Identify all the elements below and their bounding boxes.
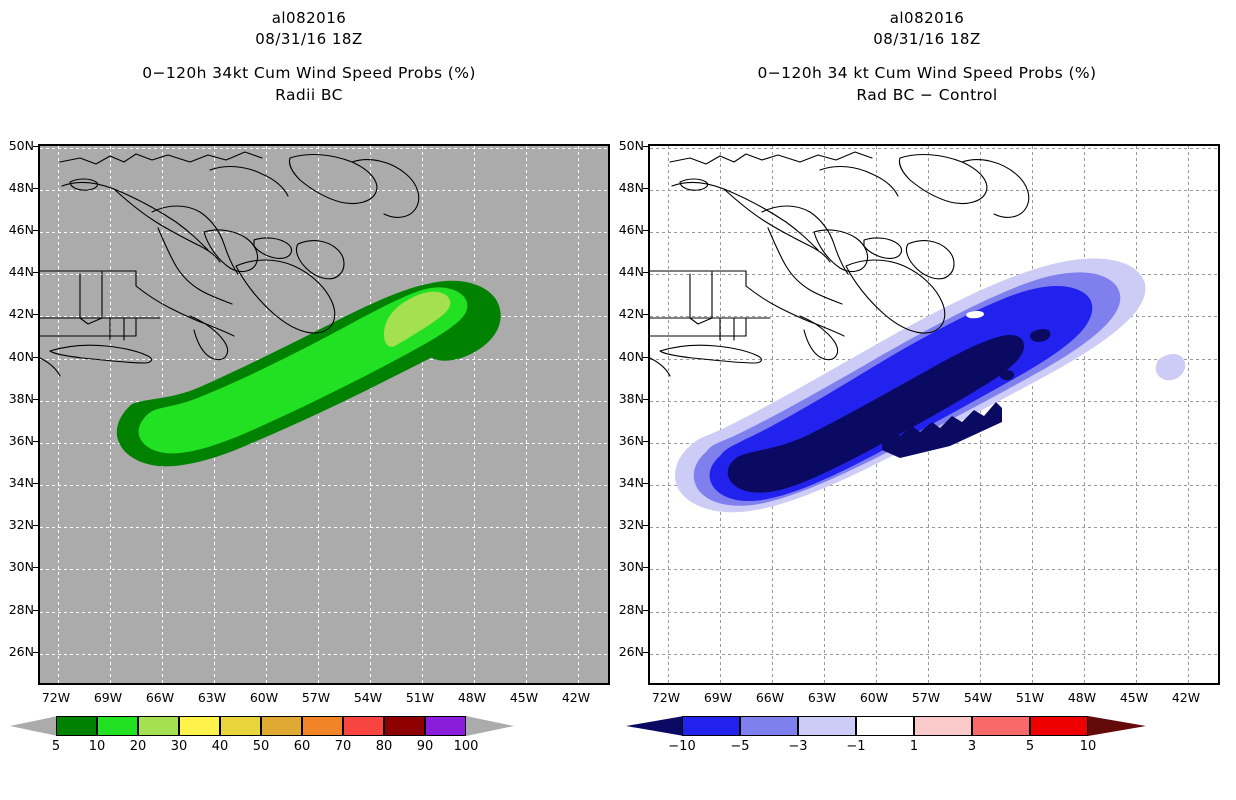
- coast-quebec-north: [60, 152, 262, 164]
- colorbar-band-70-80: [343, 716, 384, 736]
- axis-label-lon-60w: 60W: [854, 692, 894, 704]
- coast-newfoundland-east: [962, 160, 1029, 218]
- coast-long-island: [660, 345, 761, 363]
- axis-label-lat-40n: 40N: [619, 351, 644, 363]
- product-subtitle: Rad BC − Control: [618, 84, 1236, 106]
- border-ct-ri: [720, 318, 734, 340]
- colorbar-tick-40: 40: [200, 740, 240, 753]
- axis-label-lat-44n: 44N: [619, 266, 644, 278]
- coast-pei: [254, 238, 291, 258]
- colorbar-band-40-50: [220, 716, 261, 736]
- map-radii-bc: 50N 48N 46N 44N 42N 40N 38N 36N 34N 32N …: [38, 144, 610, 685]
- colorbar-tick-10: 10: [77, 740, 117, 753]
- border-ct-ri: [110, 318, 124, 340]
- coast-cape-cod: [190, 316, 228, 360]
- axis-label-lon-69w: 69W: [88, 692, 128, 704]
- axis-label-lon-69w: 69W: [698, 692, 738, 704]
- colorbar-band-10-20: [97, 716, 138, 736]
- colorbar-tick-10: 10: [1066, 740, 1110, 753]
- colorbar-band-30-40: [179, 716, 220, 736]
- border-state-vt-nh: [80, 272, 102, 324]
- axis-label-lon-51w: 51W: [1010, 692, 1050, 704]
- axis-label-lat-50n: 50N: [619, 140, 644, 152]
- axis-label-lat-48n: 48N: [619, 182, 644, 194]
- axis-label-lat-42n: 42N: [9, 308, 34, 320]
- coast-cape-cod: [800, 316, 838, 360]
- coast-st-lawrence: [62, 182, 208, 250]
- axis-label-lon-45w: 45W: [504, 692, 544, 704]
- panel-rad-bc-control: al082016 08/31/16 18Z 0−120h 34 kt Cum W…: [618, 0, 1236, 800]
- colorbar-tick-90: 90: [405, 740, 445, 753]
- coast-nj: [650, 358, 670, 376]
- axis-label-lon-57w: 57W: [906, 692, 946, 704]
- coast-new-england: [746, 286, 844, 336]
- axis-label-lon-45w: 45W: [1114, 692, 1154, 704]
- coast-nova-scotia: [846, 260, 945, 333]
- axis-label-lon-72w: 72W: [36, 692, 76, 704]
- colorbar-tick-100: 100: [446, 740, 486, 753]
- colorbar-tick-60: 60: [282, 740, 322, 753]
- axis-label-lat-38n: 38N: [9, 393, 34, 405]
- coast-new-england: [136, 286, 234, 336]
- axis-label-lat-26n: 26N: [9, 646, 34, 658]
- coastline-overlay: [650, 146, 1220, 685]
- colorbar-probability: 5 10 20 30 40 50 60 70 80 90 100: [56, 716, 566, 760]
- axis-label-lon-42w: 42W: [556, 692, 596, 704]
- storm-id: al082016: [618, 8, 1236, 29]
- colorbar-tick-neg10: −10: [660, 740, 704, 753]
- colorbar-band-neg3-neg1: [798, 716, 856, 736]
- border-state-north: [40, 271, 136, 286]
- colorbar-band-1-3: [914, 716, 972, 736]
- colorbar-band-50-60: [261, 716, 302, 736]
- axis-label-lon-72w: 72W: [646, 692, 686, 704]
- colorbar-tick-30: 30: [159, 740, 199, 753]
- coast-cape-breton: [906, 241, 954, 279]
- coast-new-brunswick: [814, 230, 868, 271]
- wind-speed-probability-figure: al082016 08/31/16 18Z 0−120h 34kt Cum Wi…: [0, 0, 1236, 800]
- border-state-vt-nh: [690, 272, 712, 324]
- axis-label-lon-48w: 48W: [1062, 692, 1102, 704]
- colorbar-tick-1: 1: [892, 740, 936, 753]
- colorbar-tick-5: 5: [1008, 740, 1052, 753]
- coast-st-lawrence: [672, 182, 818, 250]
- coast-long-island: [50, 345, 151, 363]
- coast-north-shore: [820, 167, 898, 196]
- colorbar-band-60-70: [302, 716, 343, 736]
- map-canvas: [38, 144, 610, 685]
- coast-maine: [158, 228, 232, 304]
- coast-north-shore: [210, 167, 288, 196]
- colorbar-low-cap: [626, 716, 684, 736]
- axis-label-lat-48n: 48N: [9, 182, 34, 194]
- datetime: 08/31/16 18Z: [618, 29, 1236, 50]
- product-subtitle: Radii BC: [0, 84, 618, 106]
- axis-label-lat-28n: 28N: [619, 604, 644, 616]
- panel-radii-bc: al082016 08/31/16 18Z 0−120h 34kt Cum Wi…: [0, 0, 618, 800]
- coastline-overlay: [40, 146, 610, 685]
- axis-label-lat-32n: 32N: [619, 519, 644, 531]
- axis-label-lon-54w: 54W: [958, 692, 998, 704]
- coast-newfoundland-east: [352, 160, 419, 218]
- axis-label-lat-44n: 44N: [9, 266, 34, 278]
- colorbar-band-5-10: [1030, 716, 1088, 736]
- coast-newfoundland: [289, 155, 376, 204]
- axis-label-lat-50n: 50N: [9, 140, 34, 152]
- axis-label-lat-36n: 36N: [619, 435, 644, 447]
- coast-gaspe: [114, 189, 220, 262]
- colorbar-tick-80: 80: [364, 740, 404, 753]
- colorbar-tick-neg1: −1: [834, 740, 878, 753]
- axis-label-lon-63w: 63W: [802, 692, 842, 704]
- colorbar-tick-5: 5: [36, 740, 76, 753]
- axis-label-lat-38n: 38N: [619, 393, 644, 405]
- coast-new-brunswick: [204, 230, 258, 271]
- probability-title: 0−120h 34 kt Cum Wind Speed Probs (%): [618, 62, 1236, 84]
- colorbar-tick-neg5: −5: [718, 740, 762, 753]
- coast-anticosti: [70, 179, 98, 190]
- left-panel-titles: al082016 08/31/16 18Z 0−120h 34kt Cum Wi…: [0, 8, 618, 106]
- border-ma-south: [40, 318, 136, 336]
- axis-label-lon-60w: 60W: [244, 692, 284, 704]
- colorbar-tick-50: 50: [241, 740, 281, 753]
- axis-label-lat-30n: 30N: [619, 561, 644, 573]
- coast-newfoundland: [899, 155, 986, 204]
- coast-maine: [768, 228, 842, 304]
- axis-label-lon-66w: 66W: [140, 692, 180, 704]
- border-state-north: [650, 271, 746, 286]
- colorbar-band-neg5-neg3: [740, 716, 798, 736]
- colorbar-band-80-90: [384, 716, 425, 736]
- axis-label-lon-66w: 66W: [750, 692, 790, 704]
- map-rad-bc-control: 50N 48N 46N 44N 42N 40N 38N 36N 34N 32N …: [648, 144, 1220, 685]
- colorbar-tick-70: 70: [323, 740, 363, 753]
- colorbar-band-3-5: [972, 716, 1030, 736]
- axis-label-lat-34n: 34N: [619, 477, 644, 489]
- border-ma-south: [650, 318, 746, 336]
- axis-label-lat-42n: 42N: [619, 308, 644, 320]
- colorbar-band-5-10: [56, 716, 97, 736]
- storm-id: al082016: [0, 8, 618, 29]
- axis-label-lat-30n: 30N: [9, 561, 34, 573]
- coast-pei: [864, 238, 901, 258]
- axis-label-lat-26n: 26N: [619, 646, 644, 658]
- axis-label-lat-28n: 28N: [9, 604, 34, 616]
- colorbar-high-cap: [1088, 716, 1146, 736]
- colorbar-difference: −10 −5 −3 −1 1 3 5 10: [682, 716, 1182, 760]
- axis-label-lat-36n: 36N: [9, 435, 34, 447]
- axis-label-lon-57w: 57W: [296, 692, 336, 704]
- colorbar-band-neg10-neg5: [682, 716, 740, 736]
- coast-quebec-north: [670, 152, 872, 164]
- axis-label-lon-51w: 51W: [400, 692, 440, 704]
- probability-title: 0−120h 34kt Cum Wind Speed Probs (%): [0, 62, 618, 84]
- coast-gaspe: [724, 189, 830, 262]
- map-canvas: [648, 144, 1220, 685]
- colorbar-low-cap: [10, 716, 58, 736]
- colorbar-high-cap: [466, 716, 514, 736]
- colorbar-tick-20: 20: [118, 740, 158, 753]
- datetime: 08/31/16 18Z: [0, 29, 618, 50]
- right-panel-titles: al082016 08/31/16 18Z 0−120h 34 kt Cum W…: [618, 8, 1236, 106]
- axis-label-lon-48w: 48W: [452, 692, 492, 704]
- coast-cape-breton: [296, 241, 344, 279]
- colorbar-band-20-30: [138, 716, 179, 736]
- coast-anticosti: [680, 179, 708, 190]
- coast-nova-scotia: [236, 260, 335, 333]
- axis-label-lon-63w: 63W: [192, 692, 232, 704]
- axis-label-lat-32n: 32N: [9, 519, 34, 531]
- colorbar-band-neg1-1: [856, 716, 914, 736]
- axis-label-lat-34n: 34N: [9, 477, 34, 489]
- axis-label-lat-46n: 46N: [9, 224, 34, 236]
- colorbar-tick-neg3: −3: [776, 740, 820, 753]
- axis-label-lat-40n: 40N: [9, 351, 34, 363]
- axis-label-lat-46n: 46N: [619, 224, 644, 236]
- colorbar-tick-3: 3: [950, 740, 994, 753]
- coast-nj: [40, 358, 60, 376]
- colorbar-band-90-100: [425, 716, 466, 736]
- axis-label-lon-54w: 54W: [348, 692, 388, 704]
- axis-label-lon-42w: 42W: [1166, 692, 1206, 704]
